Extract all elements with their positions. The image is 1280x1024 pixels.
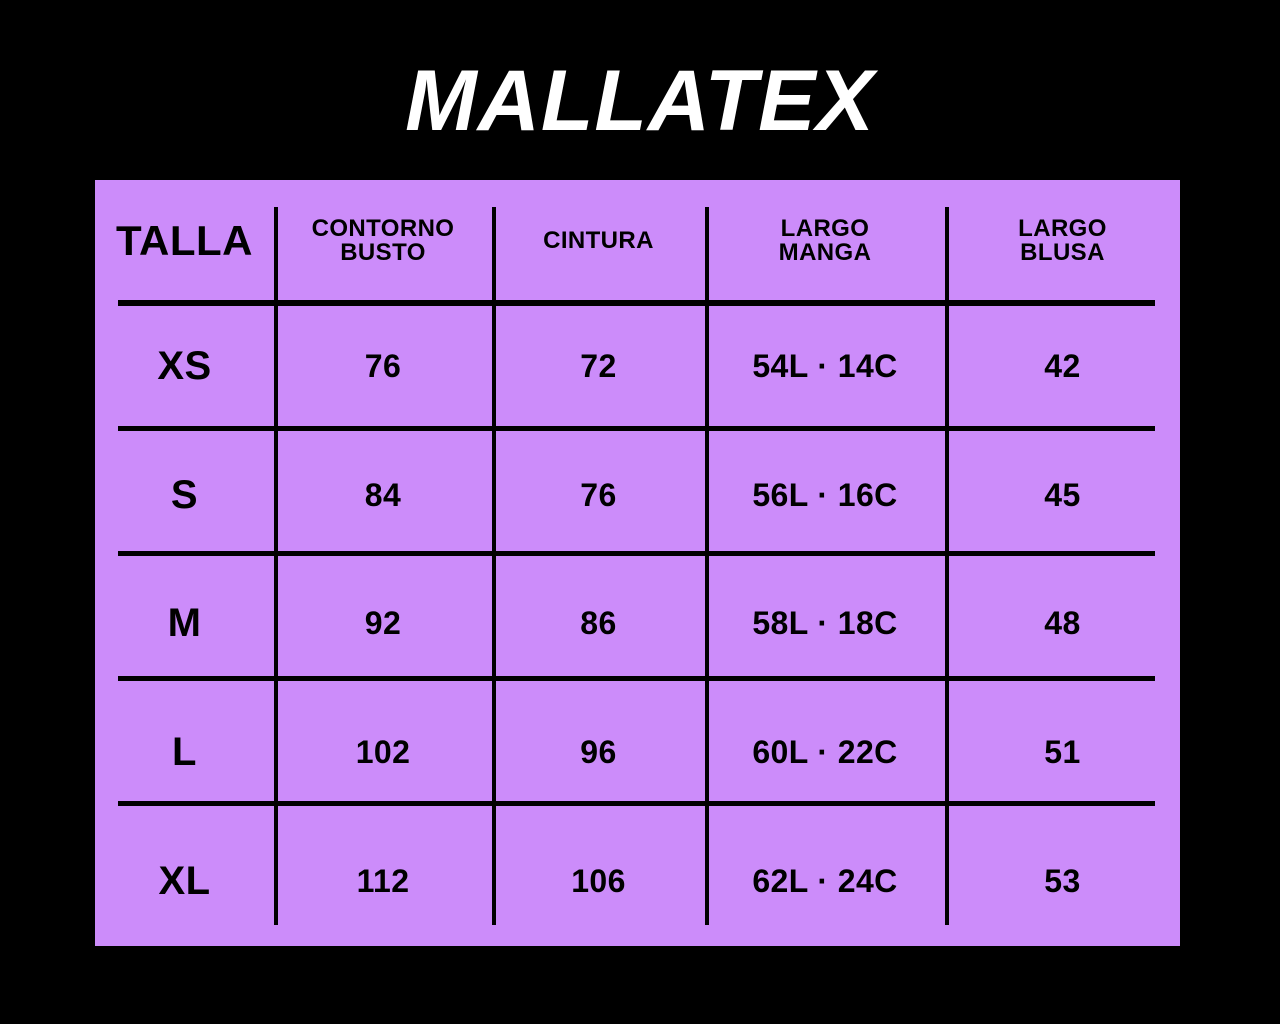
cell-busto: 102 <box>274 688 492 817</box>
cell-busto: 112 <box>274 817 492 946</box>
cell-cintura: 106 <box>492 817 705 946</box>
header-line: BUSTO <box>274 241 492 265</box>
cell-manga: 54L · 14C <box>705 302 945 431</box>
column-header-cintura: CINTURA <box>492 180 705 302</box>
header-row: TALLA CONTORNO BUSTO CINTURA LARGO MANGA <box>95 180 1180 302</box>
header-line: CINTURA <box>492 229 705 253</box>
cell-cintura: 96 <box>492 688 705 817</box>
header-line: MANGA <box>705 241 945 265</box>
cell-blusa: 53 <box>945 817 1180 946</box>
header-line: TALLA <box>95 220 274 263</box>
table-row: S 84 76 56L · 16C 45 <box>95 431 1180 560</box>
header-line: CONTORNO <box>274 217 492 241</box>
cell-blusa: 42 <box>945 302 1180 431</box>
table-header: TALLA CONTORNO BUSTO CINTURA LARGO MANGA <box>95 180 1180 302</box>
cell-blusa: 51 <box>945 688 1180 817</box>
cell-busto: 92 <box>274 560 492 689</box>
header-line: LARGO <box>705 217 945 241</box>
cell-blusa: 48 <box>945 560 1180 689</box>
table-body: XS 76 72 54L · 14C 42 S 84 76 56L · 16C … <box>95 302 1180 946</box>
cell-cintura: 86 <box>492 560 705 689</box>
cell-talla: M <box>95 560 274 689</box>
cell-manga: 56L · 16C <box>705 431 945 560</box>
table-row: XL 112 106 62L · 24C 53 <box>95 817 1180 946</box>
table-row: L 102 96 60L · 22C 51 <box>95 688 1180 817</box>
header-line: BLUSA <box>945 241 1180 265</box>
cell-talla: XL <box>95 817 274 946</box>
column-header-contorno-busto: CONTORNO BUSTO <box>274 180 492 302</box>
table-row: M 92 86 58L · 18C 48 <box>95 560 1180 689</box>
column-header-talla: TALLA <box>95 180 274 302</box>
size-chart-page: MALLATEX TALLA CON <box>0 0 1280 1024</box>
cell-manga: 58L · 18C <box>705 560 945 689</box>
cell-busto: 84 <box>274 431 492 560</box>
cell-manga: 60L · 22C <box>705 688 945 817</box>
cell-busto: 76 <box>274 302 492 431</box>
column-header-largo-manga: LARGO MANGA <box>705 180 945 302</box>
page-title: MALLATEX <box>0 58 1280 144</box>
cell-blusa: 45 <box>945 431 1180 560</box>
cell-manga: 62L · 24C <box>705 817 945 946</box>
cell-talla: XS <box>95 302 274 431</box>
cell-talla: S <box>95 431 274 560</box>
column-header-largo-blusa: LARGO BLUSA <box>945 180 1180 302</box>
header-line: LARGO <box>945 217 1180 241</box>
cell-cintura: 76 <box>492 431 705 560</box>
cell-cintura: 72 <box>492 302 705 431</box>
size-chart-panel: TALLA CONTORNO BUSTO CINTURA LARGO MANGA <box>95 180 1180 946</box>
size-table: TALLA CONTORNO BUSTO CINTURA LARGO MANGA <box>95 180 1180 946</box>
table-row: XS 76 72 54L · 14C 42 <box>95 302 1180 431</box>
cell-talla: L <box>95 688 274 817</box>
